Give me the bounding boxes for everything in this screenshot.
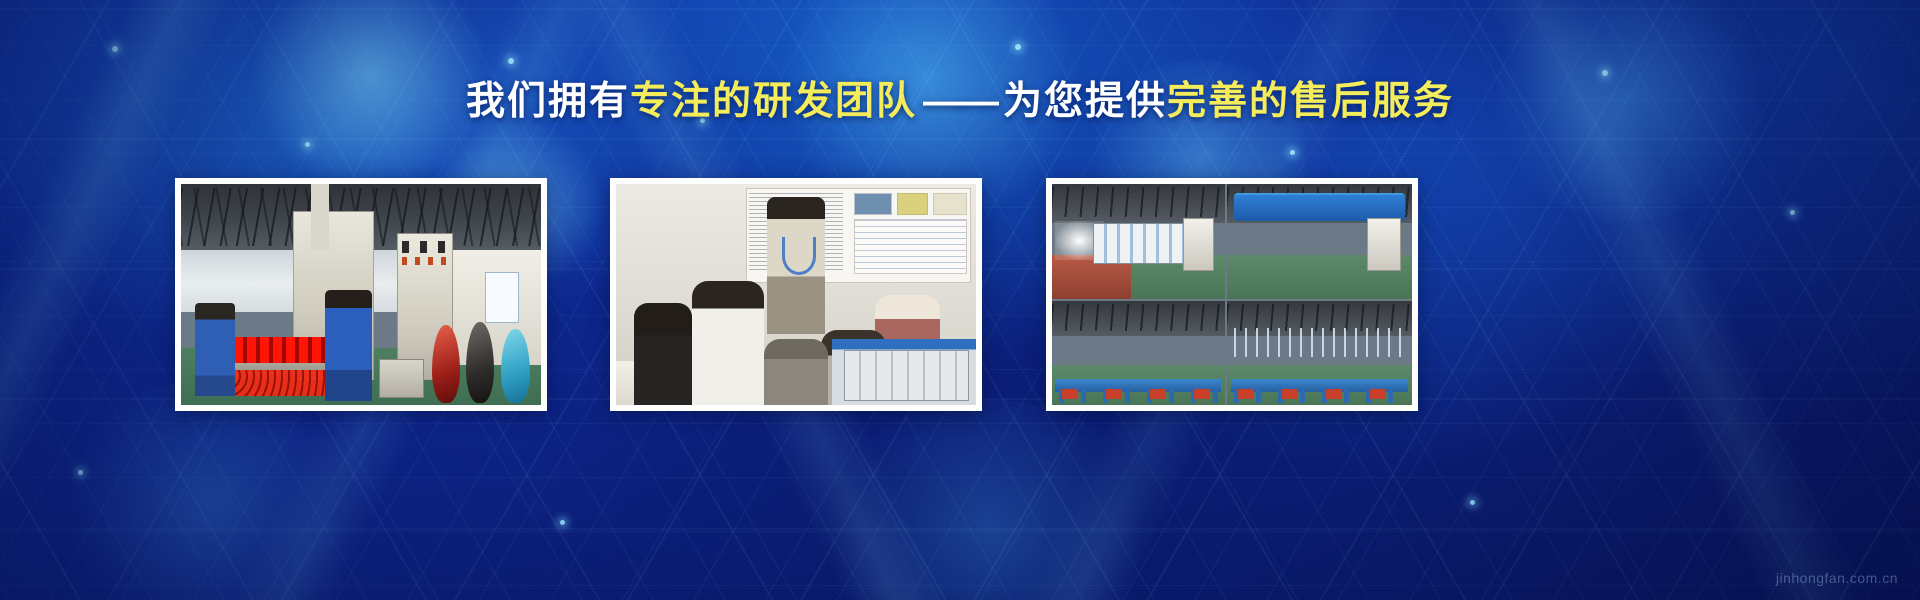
headline-segment-3: 为您提供 <box>1003 80 1167 123</box>
glass-vase-group <box>429 317 537 405</box>
poster-photo-1 <box>854 193 892 215</box>
headline-dash: —— <box>917 80 1003 123</box>
rnd-meeting-image <box>616 184 976 405</box>
workshop-truss <box>1052 187 1225 217</box>
worker-left <box>195 303 235 396</box>
indicator-lights <box>402 257 445 265</box>
red-fixtures <box>1062 389 1214 398</box>
page-title: 我们拥有专注的研发团队——为您提供完善的售后服务 <box>0 82 1920 121</box>
red-fixtures <box>1238 389 1401 398</box>
production-line-photo[interactable] <box>175 178 547 411</box>
blue-vase <box>501 329 530 403</box>
machine-schematic <box>854 219 968 274</box>
photo-panel-group <box>0 178 1920 416</box>
workshop-truss <box>1052 304 1225 331</box>
exhaust-stack <box>311 184 329 250</box>
white-cabinet <box>1183 218 1214 271</box>
production-line-image <box>181 184 541 405</box>
site-watermark: jinhongfan.com.cn <box>1776 570 1898 586</box>
workshop-equipment-photo[interactable] <box>1046 178 1418 411</box>
seated-person-center <box>764 339 829 405</box>
red-parts-pile <box>221 370 329 397</box>
black-vase <box>466 322 494 403</box>
white-cabinet <box>1367 218 1400 271</box>
blue-tunnel-oven <box>1234 195 1404 220</box>
headline-segment-1: 我们拥有 <box>466 80 630 123</box>
headline-segment-4: 完善的售后服务 <box>1167 80 1454 123</box>
workshop-composite-image <box>1052 184 1412 405</box>
equipment-label <box>485 272 519 323</box>
poster-photo-3 <box>933 193 967 215</box>
workshop-quadrant-bottom-left <box>1052 301 1225 405</box>
seated-person-left <box>634 303 692 405</box>
poster-photo-2 <box>897 193 928 215</box>
plastic-crate <box>379 359 424 399</box>
rnd-team-meeting-photo[interactable] <box>610 178 982 411</box>
seated-person-center-left <box>692 281 764 405</box>
workshop-quadrant-top-left <box>1052 184 1225 299</box>
headline-segment-2: 专注的研发团队 <box>630 80 917 123</box>
workshop-quadrant-top-right <box>1227 184 1412 299</box>
red-vase <box>432 325 460 403</box>
machine-cabinet-row <box>844 350 968 401</box>
promo-banner: 我们拥有专注的研发团队——为您提供完善的售后服务 <box>0 0 1920 600</box>
control-dials <box>402 241 445 252</box>
worker-right <box>325 290 372 401</box>
workshop-quadrant-bottom-right <box>1227 301 1412 405</box>
hanging-hooks <box>1234 328 1404 357</box>
